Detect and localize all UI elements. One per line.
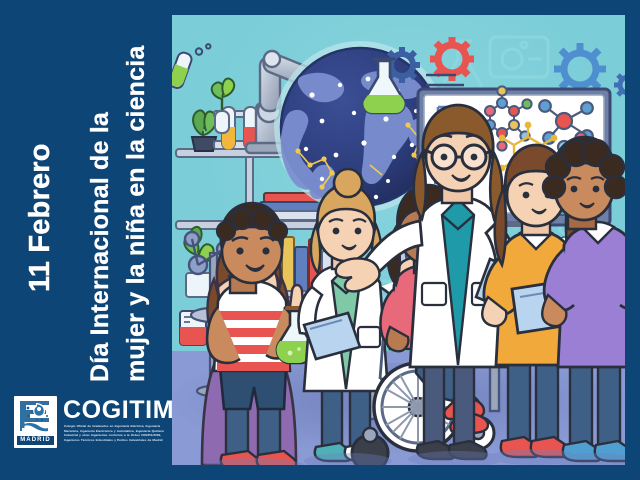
headline-title-line-1: Día Internacional de la — [86, 112, 115, 382]
cogitim-tagline: Colegio Oficial de Graduados en Ingenier… — [64, 424, 166, 442]
tagline-line: Colegio Oficial de Graduados en Ingenier… — [64, 424, 166, 429]
hair-bun — [334, 169, 362, 197]
logo-madrid-label: MADRID — [17, 436, 54, 445]
potted-plant-icon — [192, 110, 216, 151]
left-text-panel: 11 Febrero Día Internacional de la mujer… — [0, 0, 172, 480]
cogitim-logo[interactable]: MADRID COGITIM Colegio Oficial de Gradua… — [14, 396, 166, 454]
cogitim-logo-mark: MADRID — [14, 396, 57, 448]
gear-blue-large-icon — [554, 43, 606, 95]
scene-vector — [172, 15, 625, 465]
gear-blue-small-icon — [614, 71, 625, 99]
ghost-camera-icon — [490, 37, 548, 77]
headline-title-line-2: mujer y la niña en la ciencia — [122, 45, 151, 382]
tagline-line: Ingenieros Técnicos Industriales y Perit… — [64, 438, 166, 443]
test-tube-green-floating — [172, 36, 211, 94]
cogitim-wordmark: COGITIM — [63, 397, 174, 423]
vertical-headline-group: 11 Febrero Día Internacional de la mujer… — [0, 0, 172, 400]
madrid-emblem-icon — [16, 398, 55, 436]
poster-root: 11 Febrero Día Internacional de la mujer… — [0, 0, 640, 480]
headline-date: 11 Febrero — [24, 143, 57, 292]
illustration-panel — [172, 15, 625, 465]
